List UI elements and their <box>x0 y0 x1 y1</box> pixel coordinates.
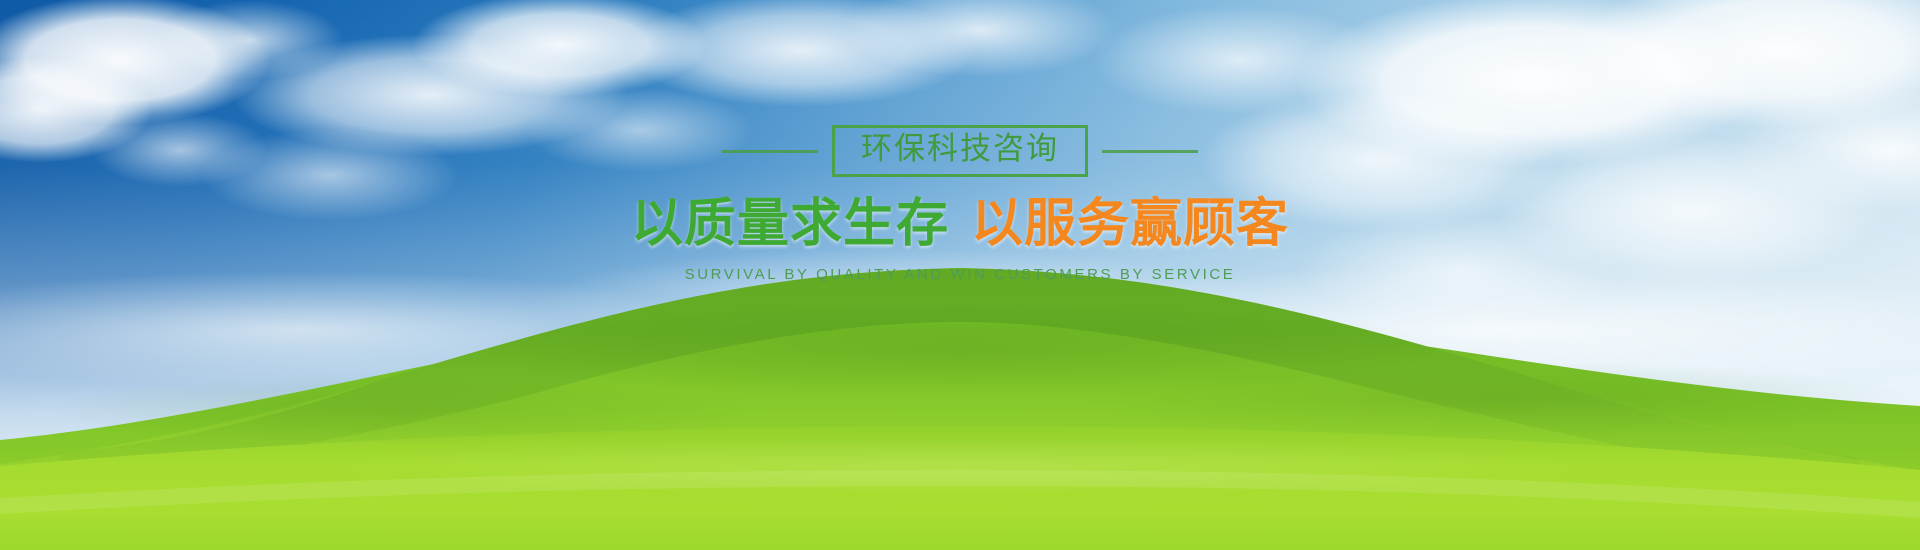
left-rule-divider <box>722 150 818 153</box>
eyebrow-row: 环保科技咨询 <box>0 120 1920 182</box>
banner-content: 环保科技咨询 以质量求生存以服务赢顾客 SURVIVAL BY QUALITY … <box>0 120 1920 283</box>
eyebrow-box: 环保科技咨询 <box>832 125 1088 177</box>
subline-english: SURVIVAL BY QUALITY AND WIN CUSTOMERS BY… <box>0 266 1920 283</box>
eyebrow-label: 环保科技咨询 <box>861 131 1059 167</box>
right-rule-divider <box>1102 150 1198 153</box>
headline-orange-segment: 以服务赢顾客 <box>971 194 1289 254</box>
headline-green-segment: 以质量求生存 <box>631 194 949 254</box>
hero-banner: 环保科技咨询 以质量求生存以服务赢顾客 SURVIVAL BY QUALITY … <box>0 0 1920 550</box>
headline: 以质量求生存以服务赢顾客 <box>0 196 1920 252</box>
